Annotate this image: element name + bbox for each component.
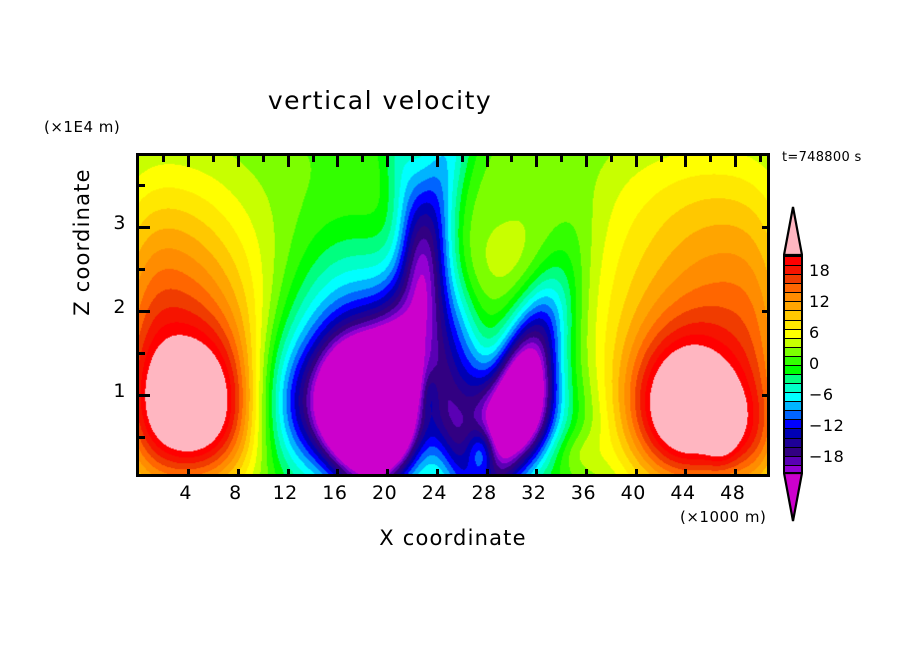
- colorbar-band: [785, 339, 801, 348]
- x-tick-top: [461, 156, 464, 162]
- x-tick-bottom: [386, 469, 389, 477]
- vertical-velocity-field: [139, 156, 767, 474]
- colorbar-band: [785, 393, 801, 402]
- colorbar-tick-label: −6: [809, 385, 834, 404]
- x-tick-top: [610, 156, 613, 162]
- colorbar-band: [785, 411, 801, 420]
- x-tick-label: 8: [210, 482, 260, 504]
- x-axis-title: X coordinate: [136, 526, 770, 550]
- page-title: vertical velocity: [0, 86, 760, 115]
- colorbar-band: [785, 302, 801, 311]
- colorbar-band: [785, 266, 801, 275]
- x-tick-label: 20: [360, 482, 410, 504]
- x-tick-top: [411, 156, 414, 162]
- x-tick-bottom: [759, 474, 762, 477]
- colorbar: 181260−6−12−18: [783, 206, 803, 522]
- x-tick-bottom: [212, 474, 215, 477]
- x-tick-bottom: [709, 474, 712, 477]
- x-tick-bottom: [734, 469, 737, 477]
- contour-plot-area: [136, 153, 770, 477]
- y-tick-left: [139, 310, 150, 313]
- x-tick-top: [510, 156, 513, 162]
- x-tick-bottom: [486, 469, 489, 477]
- x-tick-label: 44: [658, 482, 708, 504]
- x-tick-bottom: [287, 469, 290, 477]
- y-tick-right: [767, 352, 770, 355]
- colorbar-band: [785, 402, 801, 411]
- x-axis-unit-label: (×1000 m): [680, 508, 766, 526]
- colorbar-band: [785, 293, 801, 302]
- x-tick-top: [759, 156, 762, 162]
- y-tick-right: [762, 226, 770, 229]
- x-tick-label: 48: [708, 482, 758, 504]
- x-tick-bottom: [660, 474, 663, 477]
- colorbar-band: [785, 284, 801, 293]
- colorbar-extend-bottom: [783, 472, 803, 522]
- x-tick-top: [709, 156, 712, 162]
- x-tick-bottom: [436, 469, 439, 477]
- y-tick-right: [767, 436, 770, 439]
- x-tick-top: [585, 156, 588, 167]
- x-tick-top: [734, 156, 737, 167]
- x-tick-label: 40: [608, 482, 658, 504]
- x-tick-label: 4: [161, 482, 211, 504]
- y-tick-left: [139, 352, 145, 355]
- colorbar-band: [785, 330, 801, 339]
- x-tick-label: 24: [409, 482, 459, 504]
- colorbar-band: [785, 420, 801, 429]
- x-tick-top: [187, 156, 190, 167]
- x-tick-label: 28: [459, 482, 509, 504]
- colorbar-band: [785, 439, 801, 448]
- colorbar-tick-label: 18: [809, 261, 830, 280]
- x-tick-top: [660, 156, 663, 162]
- colorbar-band: [785, 311, 801, 320]
- x-tick-top: [635, 156, 638, 167]
- x-tick-top: [560, 156, 563, 162]
- x-tick-top: [262, 156, 265, 162]
- colorbar-band: [785, 321, 801, 330]
- y-tick-left: [139, 394, 150, 397]
- colorbar-band: [785, 366, 801, 375]
- colorbar-band: [785, 357, 801, 366]
- x-tick-bottom: [635, 469, 638, 477]
- colorbar-band: [785, 384, 801, 393]
- x-tick-top: [535, 156, 538, 167]
- x-tick-bottom: [237, 469, 240, 477]
- x-tick-bottom: [361, 474, 364, 477]
- y-tick-label: 3: [96, 212, 126, 234]
- colorbar-tick-label: 0: [809, 354, 820, 373]
- timestamp-annotation: t=748800 s: [782, 150, 862, 165]
- x-tick-top: [361, 156, 364, 162]
- x-tick-bottom: [461, 474, 464, 477]
- y-tick-label: 1: [96, 380, 126, 402]
- colorbar-band: [785, 429, 801, 438]
- x-tick-top: [386, 156, 389, 167]
- y-axis-title: Z coordinate: [70, 132, 94, 352]
- colorbar-tick-label: 12: [809, 292, 830, 311]
- x-tick-top: [684, 156, 687, 167]
- x-tick-bottom: [610, 474, 613, 477]
- x-tick-top: [287, 156, 290, 167]
- colorbar-band: [785, 448, 801, 457]
- x-tick-label: 16: [310, 482, 360, 504]
- y-tick-right: [767, 184, 770, 187]
- colorbar-tick-label: −18: [809, 447, 844, 466]
- y-tick-left: [139, 436, 145, 439]
- colorbar-band: [785, 348, 801, 357]
- y-tick-right: [767, 268, 770, 271]
- colorbar-band: [785, 275, 801, 284]
- y-tick-right: [762, 310, 770, 313]
- x-tick-label: 36: [559, 482, 609, 504]
- x-tick-bottom: [585, 469, 588, 477]
- x-tick-top: [212, 156, 215, 162]
- y-tick-right: [762, 394, 770, 397]
- x-tick-top: [336, 156, 339, 167]
- x-tick-bottom: [411, 474, 414, 477]
- colorbar-tick-label: 6: [809, 323, 820, 342]
- x-tick-bottom: [560, 474, 563, 477]
- x-tick-label: 32: [509, 482, 559, 504]
- x-tick-bottom: [312, 474, 315, 477]
- x-tick-top: [436, 156, 439, 167]
- x-tick-bottom: [510, 474, 513, 477]
- x-tick-bottom: [262, 474, 265, 477]
- x-tick-top: [486, 156, 489, 167]
- x-tick-bottom: [535, 469, 538, 477]
- x-tick-bottom: [162, 474, 165, 477]
- y-tick-left: [139, 268, 145, 271]
- x-tick-top: [237, 156, 240, 167]
- y-tick-left: [139, 184, 145, 187]
- x-tick-top: [312, 156, 315, 162]
- x-tick-top: [162, 156, 165, 162]
- colorbar-band: [785, 257, 801, 266]
- x-tick-label: 12: [260, 482, 310, 504]
- colorbar-bands: [783, 255, 803, 473]
- colorbar-extend-top: [783, 206, 803, 256]
- x-tick-bottom: [187, 469, 190, 477]
- colorbar-band: [785, 375, 801, 384]
- figure-root: vertical velocity (×1E4 m) t=748800 s Z …: [0, 0, 904, 654]
- colorbar-tick-label: −12: [809, 416, 844, 435]
- x-tick-bottom: [684, 469, 687, 477]
- y-tick-left: [139, 226, 150, 229]
- x-tick-bottom: [336, 469, 339, 477]
- y-tick-label: 2: [96, 296, 126, 318]
- colorbar-band: [785, 457, 801, 466]
